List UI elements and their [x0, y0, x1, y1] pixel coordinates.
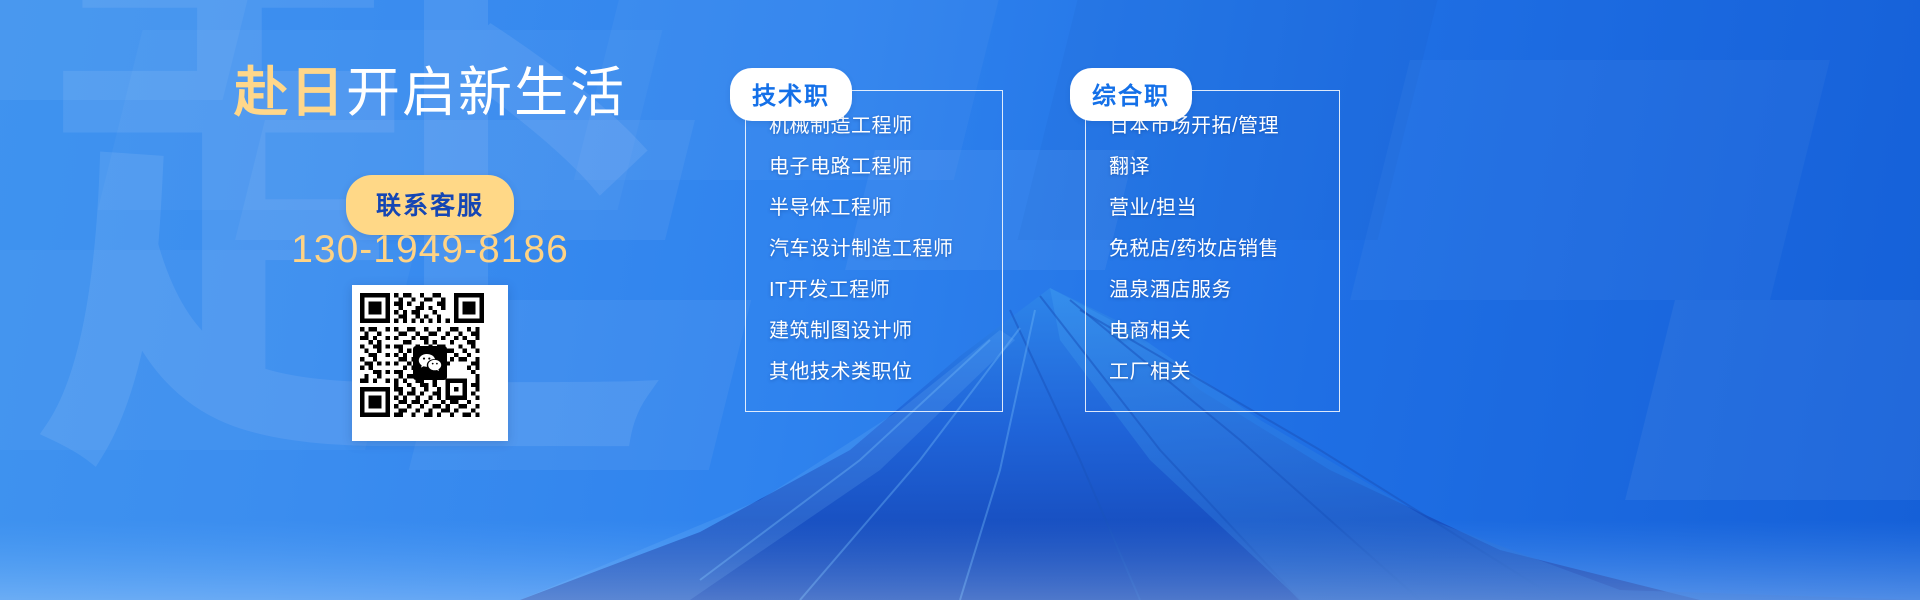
contact-service-button[interactable]: 联系客服: [346, 175, 514, 235]
job-column-badge-technical[interactable]: 技术职: [730, 68, 852, 121]
job-list-general: 日本市场开拓/管理 翻译 营业/担当 免税店/药妆店销售 温泉酒店服务 电商相关…: [1085, 90, 1340, 412]
job-column-badge-general[interactable]: 综合职: [1070, 68, 1192, 121]
job-item[interactable]: 半导体工程师: [769, 198, 1003, 218]
job-item[interactable]: 翻译: [1109, 157, 1340, 177]
job-item[interactable]: 营业/担当: [1109, 198, 1340, 218]
headline-rest: 开启新生活: [346, 63, 626, 123]
job-list-technical: 机械制造工程师 电子电路工程师 半导体工程师 汽车设计制造工程师 IT开发工程师…: [745, 90, 1003, 412]
page-title: 赴日开启新生活: [150, 48, 710, 127]
wechat-icon: [413, 346, 447, 380]
job-item[interactable]: 电子电路工程师: [769, 157, 1003, 177]
wechat-qr-code[interactable]: [352, 285, 508, 441]
job-item[interactable]: 汽车设计制造工程师: [769, 239, 1003, 259]
headline-highlight: 赴日: [234, 63, 346, 123]
job-item[interactable]: IT开发工程师: [769, 280, 1003, 300]
decor-slab: [1350, 60, 1830, 300]
job-item[interactable]: 建筑制图设计师: [769, 321, 1003, 341]
left-content: 赴日开启新生活 联系客服 130-1949-8186: [150, 0, 710, 600]
promo-banner: 赴: [0, 0, 1920, 600]
phone-number[interactable]: 130-1949-8186: [291, 228, 569, 272]
job-item[interactable]: 免税店/药妆店销售: [1109, 239, 1340, 259]
job-item[interactable]: 温泉酒店服务: [1109, 280, 1340, 300]
job-item[interactable]: 工厂相关: [1109, 362, 1340, 382]
wechat-glyph: [418, 353, 442, 373]
decor-slab: [1625, 300, 1920, 500]
job-item[interactable]: 电商相关: [1109, 321, 1340, 341]
job-item[interactable]: 其他技术类职位: [769, 362, 1003, 382]
